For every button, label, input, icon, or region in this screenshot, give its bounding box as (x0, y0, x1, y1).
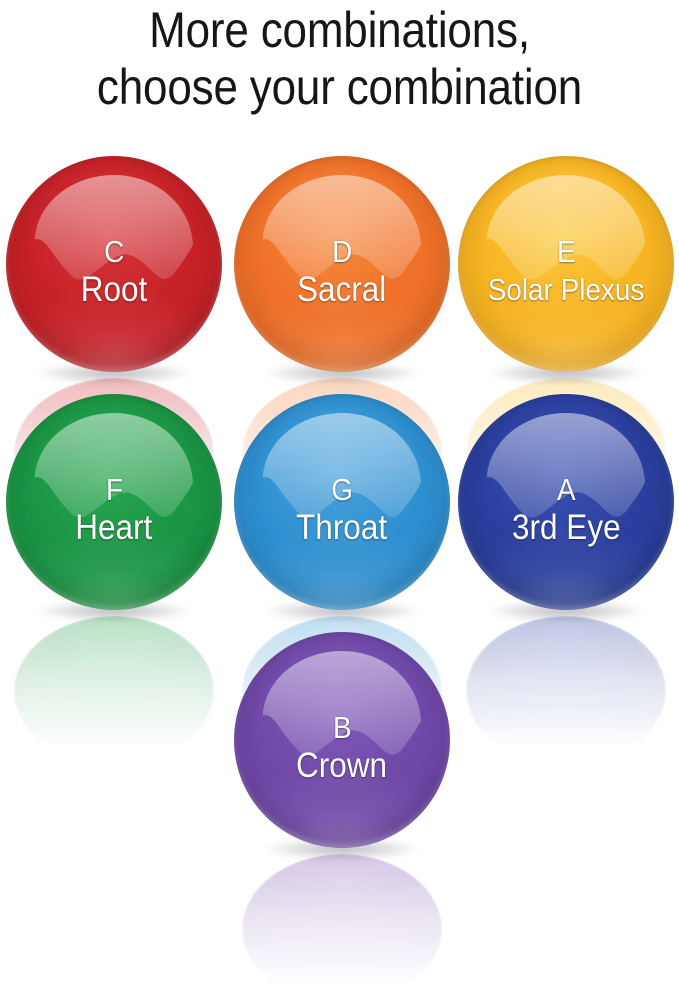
sphere-rim-light-throat (234, 394, 450, 610)
sphere-reflection-3rd-eye (466, 616, 666, 766)
page-title: More combinations, choose your combinati… (41, 0, 639, 116)
sphere-solar-plexus[interactable]: ESolar Plexus (458, 156, 674, 372)
sphere-cell-throat: GThroat (228, 394, 456, 622)
sphere-rim-light-root (6, 156, 222, 372)
sphere-rim-light-solar-plexus (458, 156, 674, 372)
sphere-cell-root: CRoot (0, 156, 228, 384)
sphere-rim-light-crown (234, 632, 450, 848)
page-title-line-2: choose your combination (41, 59, 639, 116)
sphere-cell-sacral: DSacral (228, 156, 456, 384)
sphere-cell-crown: BCrown (228, 632, 456, 860)
chakra-sphere-grid: CRootDSacralESolar PlexusFHeartGThroatA3… (0, 148, 679, 899)
sphere-crown[interactable]: BCrown (234, 632, 450, 848)
sphere-reflection-crown (242, 854, 442, 1004)
sphere-rim-light-3rd-eye (458, 394, 674, 610)
sphere-throat[interactable]: GThroat (234, 394, 450, 610)
sphere-root[interactable]: CRoot (6, 156, 222, 372)
sphere-3rd-eye[interactable]: A3rd Eye (458, 394, 674, 610)
page-title-line-1: More combinations, (41, 0, 639, 59)
sphere-heart[interactable]: FHeart (6, 394, 222, 610)
sphere-sacral[interactable]: DSacral (234, 156, 450, 372)
sphere-rim-light-sacral (234, 156, 450, 372)
sphere-cell-heart: FHeart (0, 394, 228, 622)
sphere-cell-solar-plexus: ESolar Plexus (452, 156, 679, 384)
sphere-cell-3rd-eye: A3rd Eye (452, 394, 679, 622)
sphere-reflection-heart (14, 616, 214, 766)
sphere-rim-light-heart (6, 394, 222, 610)
